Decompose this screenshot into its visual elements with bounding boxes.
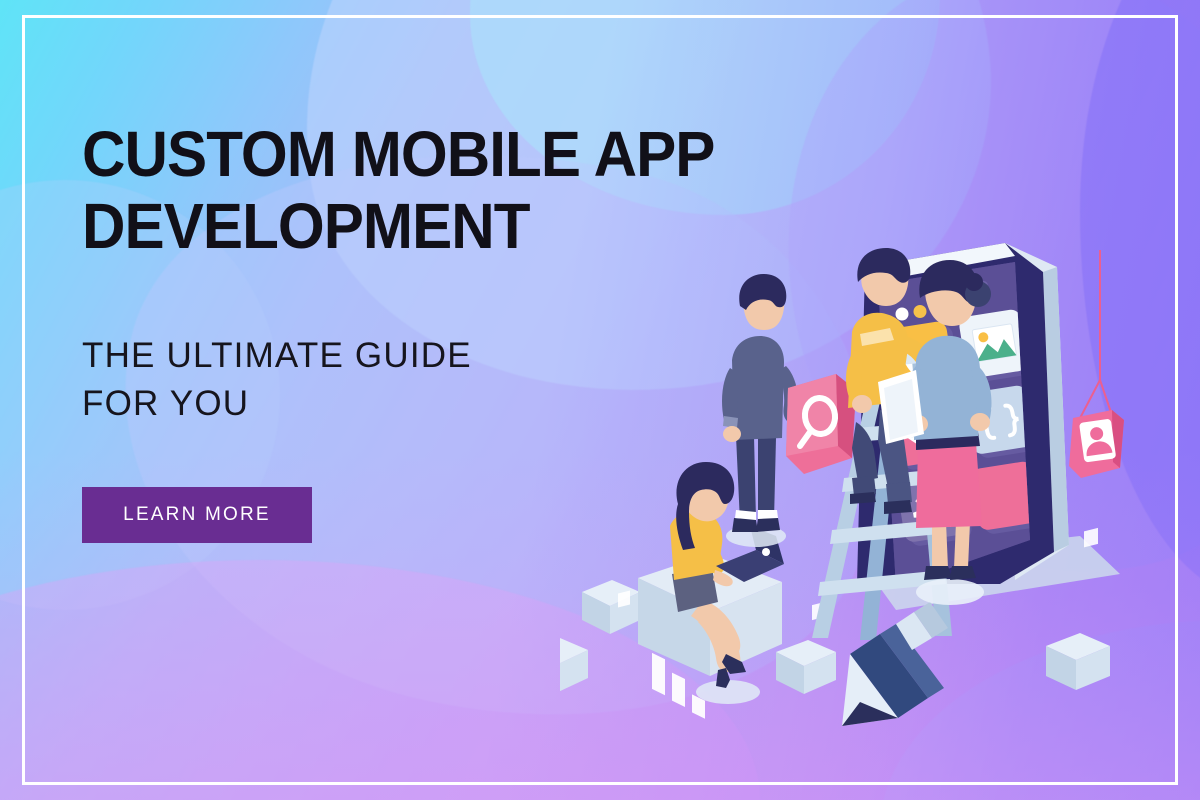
floating-cube bbox=[560, 638, 588, 692]
promo-banner: CUSTOM MOBILE APP DEVELOPMENT THE ULTIMA… bbox=[0, 0, 1200, 800]
pencil bbox=[842, 602, 948, 726]
illustration bbox=[560, 240, 1200, 760]
hanging-profile-tag bbox=[1069, 250, 1124, 478]
search-card bbox=[786, 374, 856, 474]
page-title: CUSTOM MOBILE APP DEVELOPMENT bbox=[82, 118, 740, 262]
learn-more-button[interactable]: Learn More bbox=[82, 487, 312, 543]
dot-white bbox=[896, 308, 909, 321]
subtitle: THE ULTIMATE GUIDE FOR YOU bbox=[82, 332, 472, 428]
copy-block: CUSTOM MOBILE APP DEVELOPMENT bbox=[82, 118, 782, 262]
dot-yellow bbox=[914, 305, 927, 318]
floating-cube bbox=[582, 580, 640, 634]
